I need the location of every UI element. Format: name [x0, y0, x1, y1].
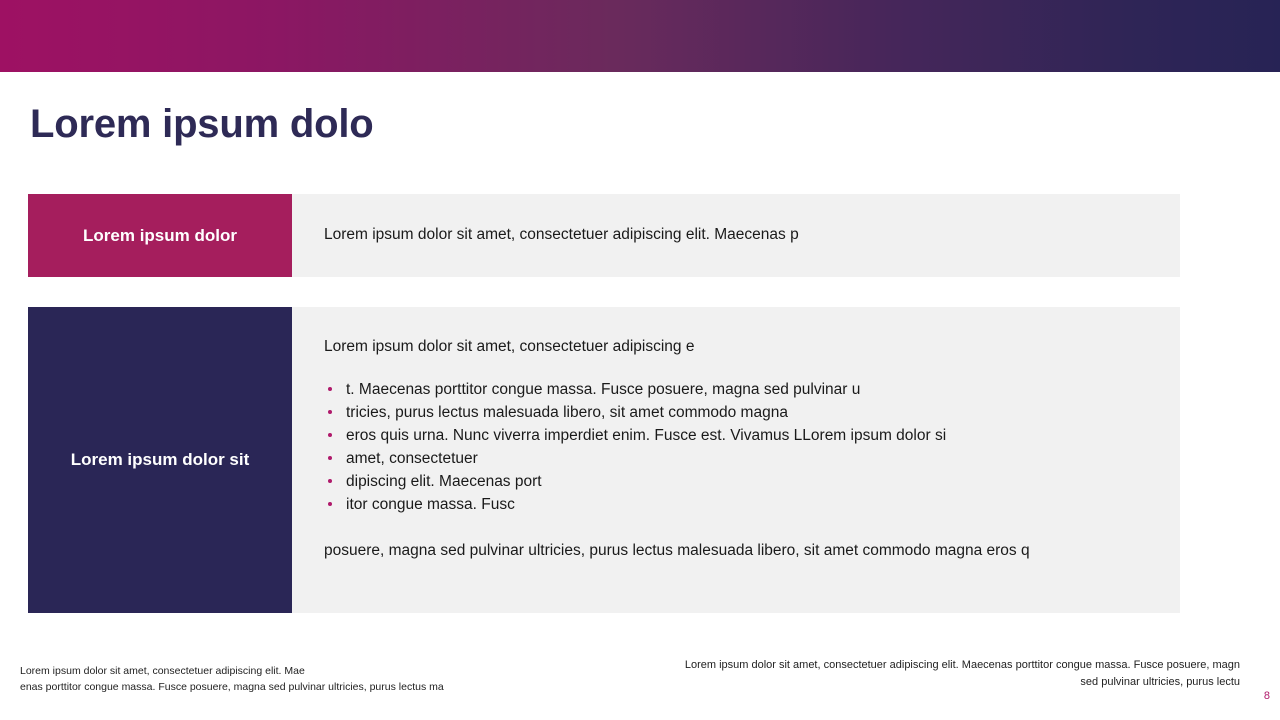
bullet-item: t. Maecenas porttitor congue massa. Fusc… [324, 379, 1162, 402]
footer-left: Lorem ipsum dolor sit amet, consectetuer… [20, 663, 510, 696]
footer-right: Lorem ipsum dolor sit amet, consectetuer… [540, 657, 1240, 691]
bullet-dot-icon [328, 456, 332, 460]
row-2-bullet-list: t. Maecenas porttitor congue massa. Fusc… [324, 379, 1162, 517]
footer-right-line-2: sed pulvinar ultricies, purus lectu [540, 674, 1240, 691]
bullet-item-text: amet, consectetuer [346, 450, 478, 467]
bullet-item: tricies, purus lectus malesuada libero, … [324, 402, 1162, 425]
row-1-body-panel: Lorem ipsum dolor sit amet, consectetuer… [292, 194, 1180, 277]
bullet-dot-icon [328, 433, 332, 437]
bullet-item: itor congue massa. Fusc [324, 494, 1162, 517]
row-1-label-box: Lorem ipsum dolor [28, 194, 292, 277]
row-2-intro-text: Lorem ipsum dolor sit amet, consectetuer… [324, 337, 1162, 357]
row-1-body-text: Lorem ipsum dolor sit amet, consectetuer… [324, 225, 799, 245]
footer-right-line-1: Lorem ipsum dolor sit amet, consectetuer… [540, 657, 1240, 674]
bullet-dot-icon [328, 387, 332, 391]
bullet-item-text: eros quis urna. Nunc viverra imperdiet e… [346, 427, 946, 444]
content-row-2: Lorem ipsum dolor sit Lorem ipsum dolor … [28, 307, 1180, 613]
bullet-dot-icon [328, 479, 332, 483]
row-2-body-panel: Lorem ipsum dolor sit amet, consectetuer… [292, 307, 1180, 613]
bullet-item: dipiscing elit. Maecenas port [324, 471, 1162, 494]
page-title: Lorem ipsum dolo [30, 101, 373, 147]
row-1-label-text: Lorem ipsum dolor [83, 225, 237, 246]
page-number: 8 [1264, 690, 1270, 702]
bullet-item: amet, consectetuer [324, 448, 1162, 471]
row-2-closing-text: posuere, magna sed pulvinar ultricies, p… [324, 541, 1162, 561]
header-gradient-band [0, 0, 1280, 72]
bullet-dot-icon [328, 502, 332, 506]
footer-left-line-1: Lorem ipsum dolor sit amet, consectetuer… [20, 663, 510, 679]
row-2-label-box: Lorem ipsum dolor sit [28, 307, 292, 613]
content-row-1: Lorem ipsum dolor Lorem ipsum dolor sit … [28, 194, 1180, 277]
bullet-item-text: dipiscing elit. Maecenas port [346, 473, 542, 490]
bullet-dot-icon [328, 410, 332, 414]
bullet-item-text: itor congue massa. Fusc [346, 496, 515, 513]
bullet-item-text: tricies, purus lectus malesuada libero, … [346, 404, 788, 421]
row-2-label-text: Lorem ipsum dolor sit [71, 449, 250, 470]
bullet-item: eros quis urna. Nunc viverra imperdiet e… [324, 425, 1162, 448]
footer-left-line-2: enas porttitor congue massa. Fusce posue… [20, 679, 510, 695]
bullet-item-text: t. Maecenas porttitor congue massa. Fusc… [346, 381, 860, 398]
